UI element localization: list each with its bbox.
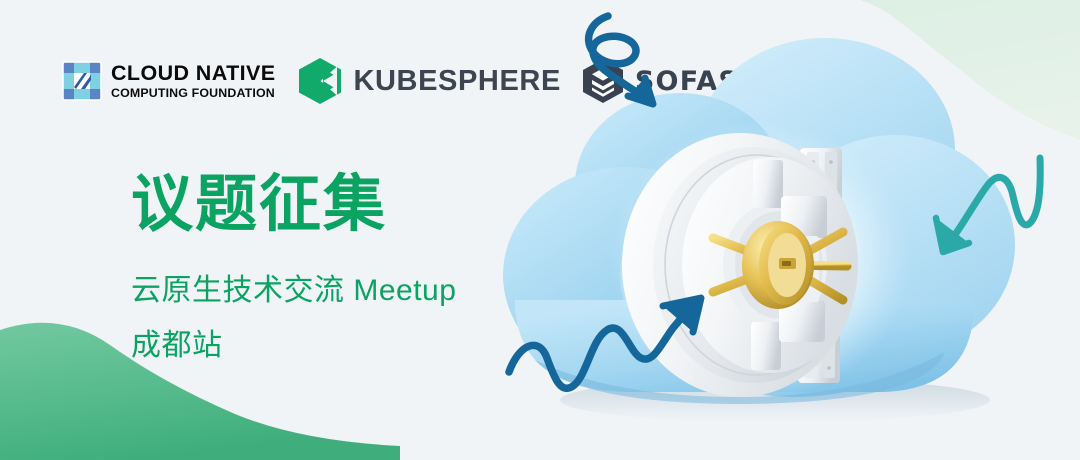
loop-arrow-down-right-icon: [589, 16, 653, 104]
cncf-logo-icon: [62, 61, 102, 101]
subtitle-line-1: 云原生技术交流 Meetup: [131, 276, 456, 306]
cloud-vault-illustration: [495, 0, 1080, 460]
subtitle-line-2: 成都站: [131, 331, 223, 361]
kubesphere-logo-icon: [299, 58, 341, 104]
event-banner: CLOUD NATIVE COMPUTING FOUNDATION KUBESP…: [0, 0, 1080, 460]
cncf-title-line1: CLOUD NATIVE: [111, 63, 275, 85]
cncf-title-line2: COMPUTING FOUNDATION: [111, 87, 275, 99]
page-title: 议题征集: [131, 174, 387, 236]
logo-cncf[interactable]: CLOUD NATIVE COMPUTING FOUNDATION: [62, 61, 275, 101]
